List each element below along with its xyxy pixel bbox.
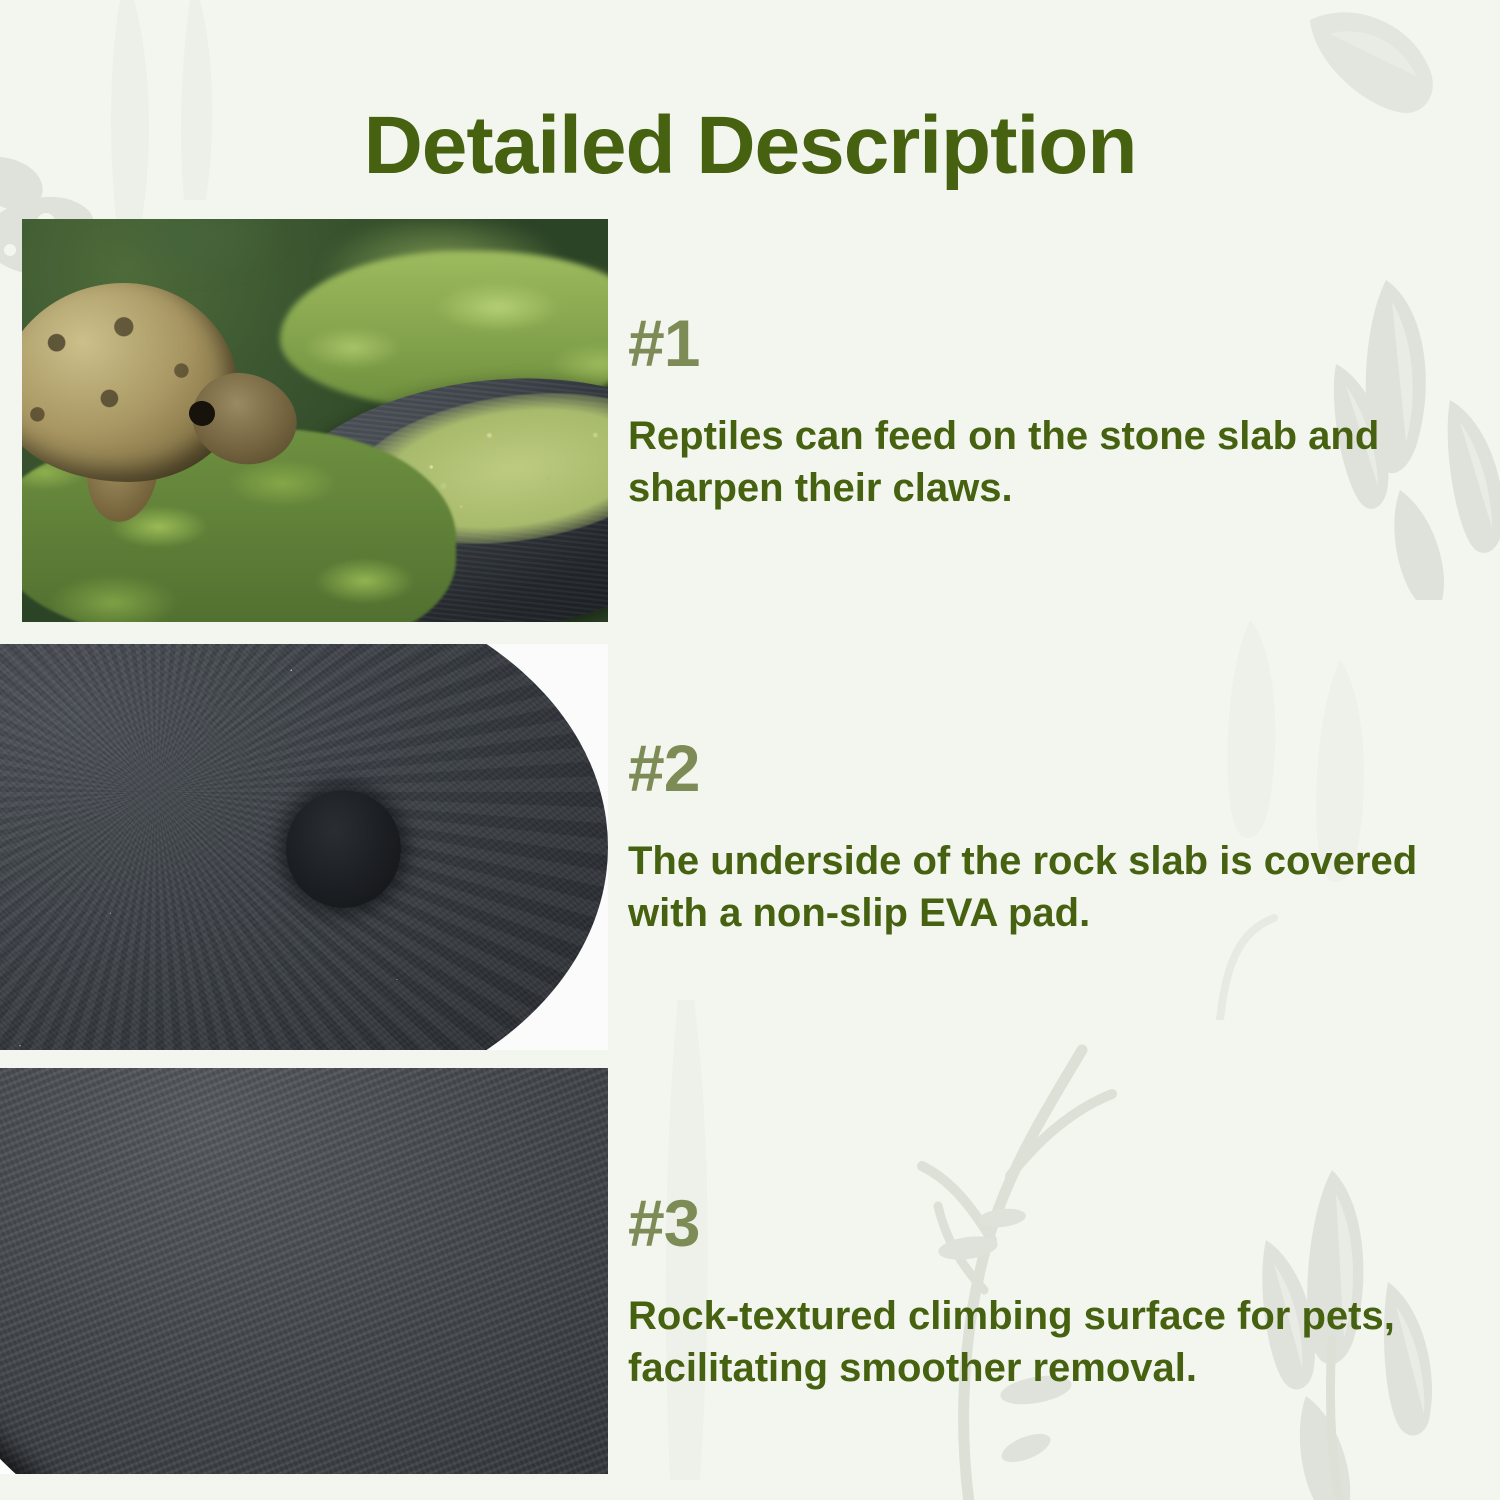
feature-image-3 xyxy=(0,1068,608,1474)
feature-list: #1 Reptiles can feed on the stone slab a… xyxy=(628,190,1473,1470)
feature-text-2: The underside of the rock slab is covere… xyxy=(628,835,1468,939)
page-title: Detailed Description xyxy=(0,103,1500,189)
feature-image-2 xyxy=(0,644,608,1050)
feature-item-2: #2 The underside of the rock slab is cov… xyxy=(628,735,1473,939)
feature-number-2: #2 xyxy=(628,735,1473,801)
feature-item-1: #1 Reptiles can feed on the stone slab a… xyxy=(628,310,1473,514)
photo3-slab-surface xyxy=(0,1068,608,1474)
photo1-shell-scutes xyxy=(22,283,239,482)
feature-image-1 xyxy=(22,219,608,622)
photo2-eva-pad xyxy=(286,790,402,908)
feature-item-3: #3 Rock-textured climbing surface for pe… xyxy=(628,1190,1473,1394)
feature-text-3: Rock-textured climbing surface for pets,… xyxy=(628,1290,1468,1394)
photo1-tortoise xyxy=(22,283,292,509)
feature-number-1: #1 xyxy=(628,310,1473,376)
feature-number-3: #3 xyxy=(628,1190,1473,1256)
feature-text-1: Reptiles can feed on the stone slab and … xyxy=(628,410,1468,514)
photo3-slab-rim-shadow xyxy=(0,1068,608,1474)
infographic-page: Detailed Description xyxy=(0,0,1500,1500)
photo1-tortoise-shell xyxy=(22,283,239,482)
